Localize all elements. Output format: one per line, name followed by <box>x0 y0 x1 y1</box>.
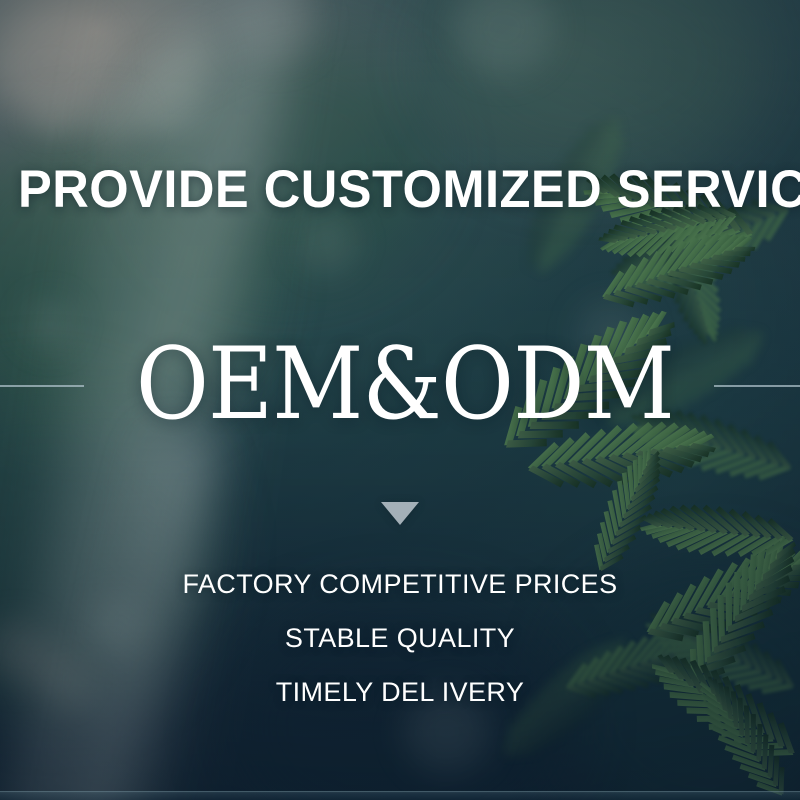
benefit-item: TIMELY DEL IVERY <box>0 665 800 719</box>
benefit-item: STABLE QUALITY <box>0 611 800 665</box>
benefits-list: FACTORY COMPETITIVE PRICES STABLE QUALIT… <box>0 557 800 719</box>
brand-lockup: OEM&ODM <box>0 336 800 436</box>
divider-rule-right <box>714 385 800 387</box>
benefit-item: FACTORY COMPETITIVE PRICES <box>0 557 800 611</box>
headline: PROVIDE CUSTOMIZED SERVICE <box>18 163 782 216</box>
brand-title: OEM&ODM <box>136 335 674 434</box>
banner-content: PROVIDE CUSTOMIZED SERVICE OEM&ODM FACTO… <box>0 0 800 800</box>
divider-rule-left <box>0 385 84 387</box>
triangle-down-icon <box>381 502 419 525</box>
promo-banner: PROVIDE CUSTOMIZED SERVICE OEM&ODM FACTO… <box>0 0 800 800</box>
